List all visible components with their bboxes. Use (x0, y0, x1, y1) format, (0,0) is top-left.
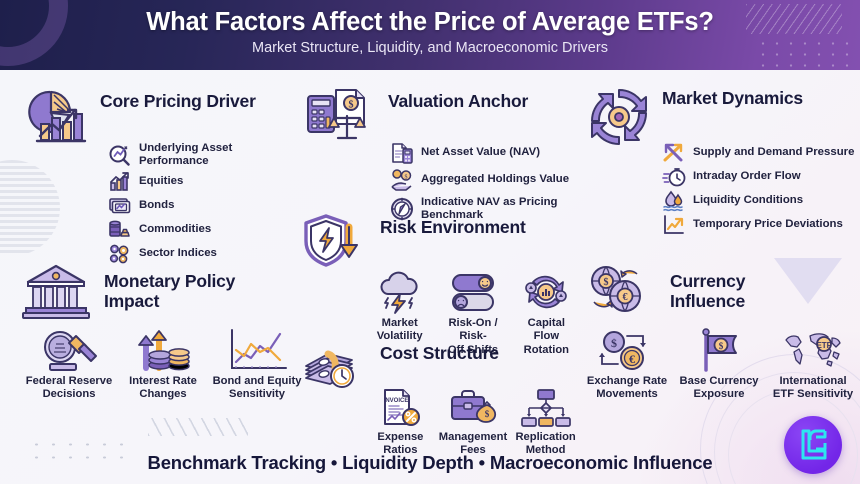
stopwatch-speed-icon (662, 166, 686, 188)
list-item[interactable]: Temporary Price Deviations (662, 214, 860, 236)
water-droplet-waves-icon (662, 190, 686, 212)
section-valuation-anchor: $ Valuation Anchor (296, 84, 574, 225)
list-item[interactable]: Equities (108, 171, 300, 193)
section-currency-influence: $ € Currency Influence $ (584, 262, 860, 402)
market-dynamics-item-list: Supply and Demand Pressure Intraday Orde… (662, 142, 860, 236)
svg-text:€: € (623, 292, 628, 303)
footer-tagline: Benchmark Tracking • Liquidity Depth • M… (0, 452, 860, 474)
list-item-label: Underlying Asset Performance (139, 142, 300, 169)
section-title-monetary-policy: Monetary Policy Impact (104, 272, 235, 311)
list-item[interactable]: Underlying Asset Performance (108, 142, 300, 169)
hand-coins-icon: $ (390, 169, 414, 191)
section-title-core-pricing: Core Pricing Driver (100, 92, 256, 112)
svg-text:ETF: ETF (816, 341, 831, 350)
section-title-market-dynamics: Market Dynamics (662, 89, 803, 109)
cash-stack-clock-icon (300, 336, 372, 390)
section-core-pricing-driver: Core Pricing Driver Underlying Asset Per… (20, 84, 300, 267)
currency-influence-item-list: $ € Exchange Rate Movements (582, 328, 860, 402)
list-item-label: Exchange Rate Movements (587, 375, 667, 402)
svg-text:INVOICE: INVOICE (384, 398, 409, 404)
svg-text:$: $ (485, 409, 490, 419)
list-item-label: Sector Indices (139, 247, 217, 260)
list-item-label: Commodities (139, 223, 211, 236)
bar-chart-arrow-icon (108, 171, 132, 193)
calculator-scales-icon: $ (302, 84, 380, 148)
list-item-label: Equities (139, 175, 183, 188)
storm-cloud-lightning-icon (375, 270, 425, 314)
svg-text:$: $ (604, 277, 609, 288)
pie-chart-bar-growth-icon (20, 84, 92, 146)
bottom-slash-decoration (148, 418, 248, 436)
monetary-policy-item-list: Federal Reserve Decisions (24, 328, 302, 402)
list-item-label: Aggregated Holdings Value (421, 173, 569, 186)
svg-text:$: $ (719, 341, 724, 351)
section-title-cost-structure: Cost Structure (380, 344, 499, 364)
page-subtitle: Market Structure, Liquidity, and Macroec… (0, 40, 860, 56)
lc-monogram-logo[interactable] (784, 416, 842, 474)
list-item[interactable]: Bonds (108, 195, 300, 217)
magnifier-chart-icon (108, 144, 132, 166)
list-item[interactable]: Supply and Demand Pressure (662, 142, 860, 164)
svg-text:$: $ (405, 174, 408, 181)
section-title-risk-environment: Risk Environment (380, 218, 526, 238)
list-item[interactable]: Federal Reserve Decisions (24, 328, 114, 402)
section-title-currency-influence: Currency Influence (670, 272, 745, 311)
section-title-valuation-anchor: Valuation Anchor (388, 92, 528, 112)
federal-seal-gavel-icon (36, 328, 102, 372)
circular-arrows-target-icon (584, 84, 654, 150)
list-item[interactable]: Net Asset Value (NAV) (390, 142, 574, 164)
invoice-percent-icon: INVOICE (375, 388, 425, 428)
rotation-arrows-coins-icon (521, 270, 571, 314)
list-item-label: Intraday Order Flow (693, 170, 801, 183)
list-item[interactable]: Replication Method (513, 388, 578, 458)
list-item-label: Liquidity Conditions (693, 194, 803, 207)
header-banner: What Factors Affect the Price of Average… (0, 0, 860, 70)
list-item-label: Federal Reserve Decisions (26, 375, 112, 402)
briefcase-money-bag-icon: $ (448, 388, 498, 428)
list-item-label: Bonds (139, 199, 174, 212)
section-market-dynamics: Market Dynamics Supply and Demand Pressu… (584, 84, 860, 238)
globes-dollar-euro-icon: $ € (584, 262, 658, 324)
list-item[interactable]: Liquidity Conditions (662, 190, 860, 212)
coins-up-arrows-icon (130, 328, 196, 372)
svg-text:€: € (629, 352, 635, 366)
list-item[interactable]: ETF International ETF Sensitivity (766, 328, 860, 402)
bank-building-icon (20, 262, 92, 322)
list-item[interactable]: Commodities (108, 219, 300, 241)
section-monetary-policy-impact: Monetary Policy Impact Federal Reserve D… (20, 262, 302, 402)
list-item-label: Interest Rate Changes (129, 375, 197, 402)
core-pricing-item-list: Underlying Asset Performance Equities (108, 142, 300, 265)
document-calculator-icon (390, 142, 414, 164)
list-item-label: Net Asset Value (NAV) (421, 146, 540, 159)
coin-exchange-icon: $ € (596, 328, 658, 372)
list-item[interactable]: INVOICE Expense Ratios (368, 388, 433, 458)
svg-text:$: $ (349, 100, 354, 111)
list-item-label: Supply and Demand Pressure (693, 146, 854, 159)
list-item[interactable]: $ € Exchange Rate Movements (582, 328, 672, 402)
crossed-arrows-icon (662, 142, 686, 164)
dollar-flag-icon: $ (688, 328, 750, 372)
world-map-etf-icon: ETF (780, 328, 846, 372)
toggle-switches-faces-icon (448, 270, 498, 314)
list-item[interactable]: $ Base Currency Exposure (674, 328, 764, 402)
section-cost-structure: Cost Structure INVOICE (296, 336, 578, 458)
list-item[interactable]: Interest Rate Changes (118, 328, 208, 402)
list-item-label: International ETF Sensitivity (773, 375, 853, 402)
valuation-anchor-item-list: Net Asset Value (NAV) $ Aggregated Holdi… (390, 142, 574, 223)
cost-structure-item-list: INVOICE Expense Ratios (368, 388, 578, 458)
page-title: What Factors Affect the Price of Average… (0, 8, 860, 37)
dual-line-graph-icon (224, 328, 290, 372)
infographic-canvas: What Factors Affect the Price of Average… (0, 0, 860, 484)
svg-text:$: $ (611, 336, 617, 350)
list-item-label: Temporary Price Deviations (693, 218, 843, 231)
list-item[interactable]: Bond and Equity Sensitivity (212, 328, 302, 402)
list-item[interactable]: $ Management Fees (439, 388, 507, 458)
list-item[interactable]: Intraday Order Flow (662, 166, 860, 188)
oil-barrel-gold-icon (108, 219, 132, 241)
list-item[interactable]: $ Aggregated Holdings Value (390, 169, 574, 191)
hierarchy-flow-icon (521, 388, 571, 428)
banknote-chart-icon (108, 195, 132, 217)
shield-lightning-arrow-icon (300, 212, 372, 274)
line-chart-arrow-icon (662, 214, 686, 236)
list-item-label: Base Currency Exposure (680, 375, 759, 402)
list-item-label: Bond and Equity Sensitivity (213, 375, 302, 402)
